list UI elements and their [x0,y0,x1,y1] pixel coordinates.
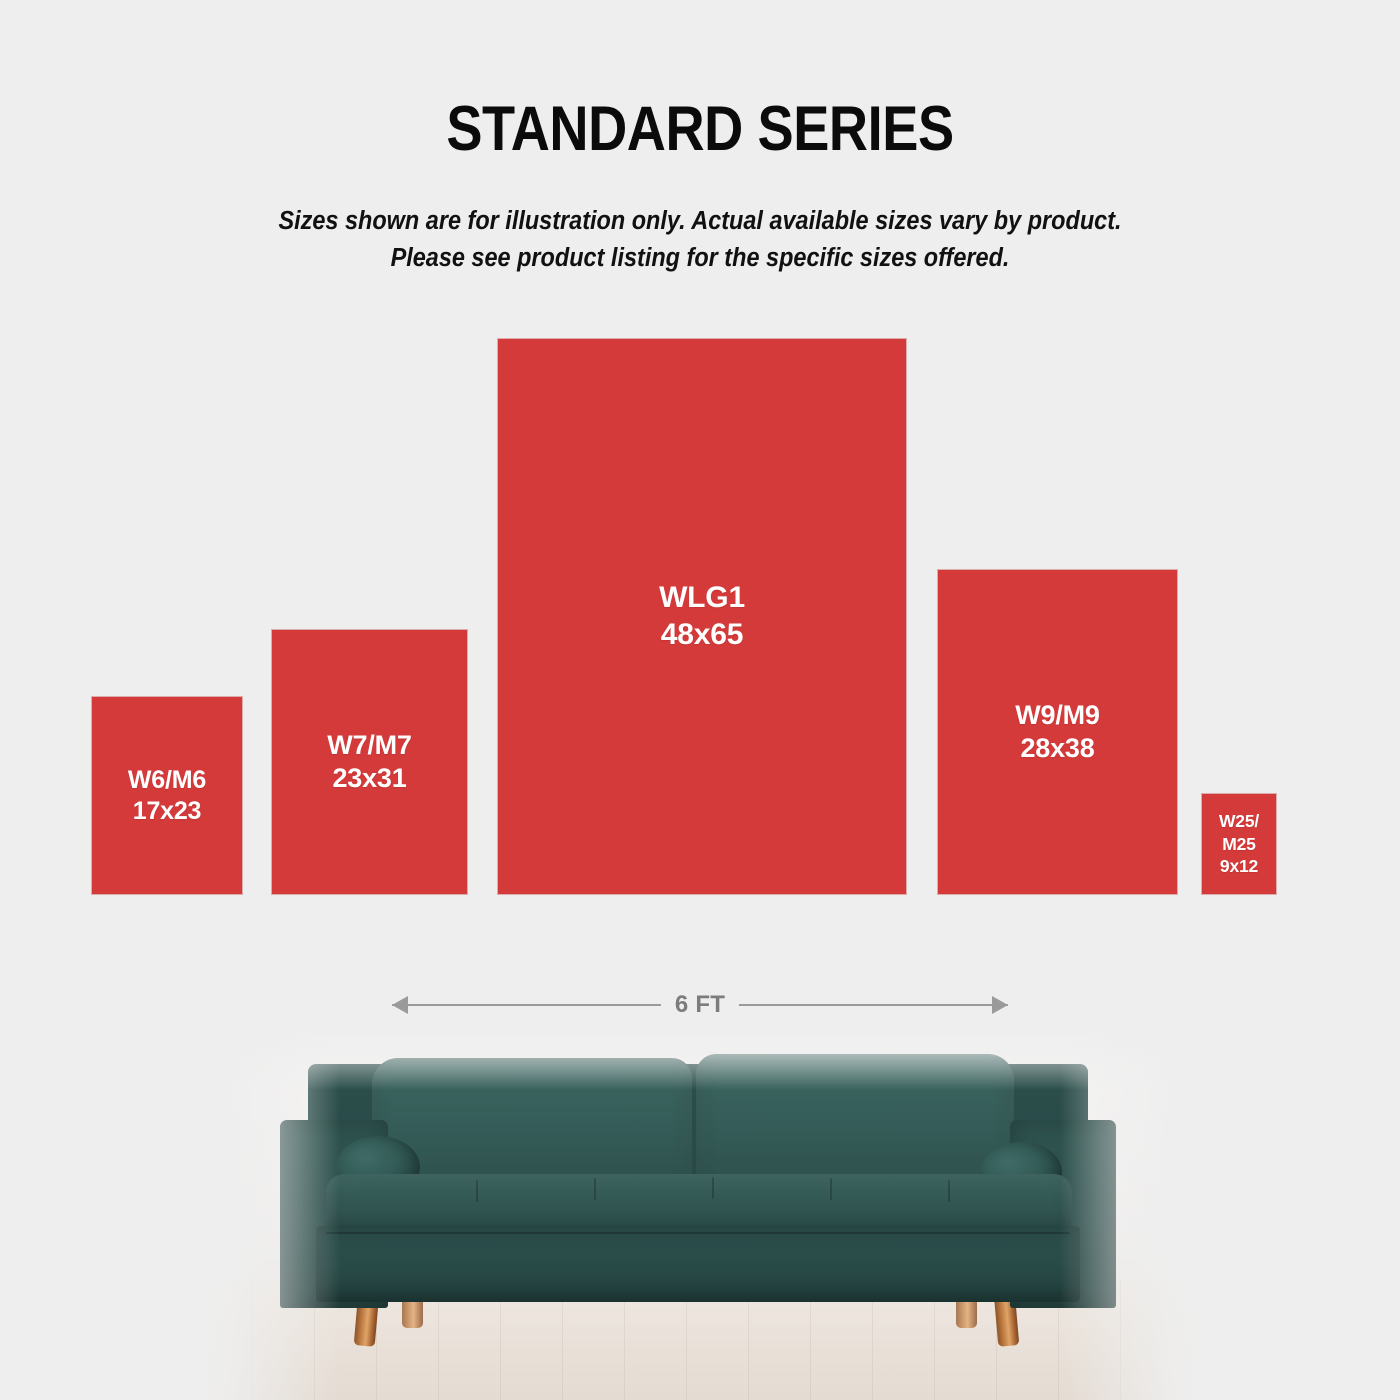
seat-tuft [948,1180,950,1202]
frame-dimensions-label: 9x12 [1220,855,1258,877]
photo-fade-left [190,1030,340,1400]
seat-tuft [476,1180,478,1202]
frame-swatch-w25-m25[interactable]: W25/ M25 9x12 [1202,794,1276,894]
seat-tuft [712,1177,714,1199]
infographic-canvas: STANDARD SERIES Sizes shown are for illu… [0,0,1400,1400]
arrow-right-icon [992,996,1008,1014]
arrow-left-icon [392,996,408,1014]
measure-label: 6 FT [661,989,739,1021]
sofa-base-front [316,1226,1080,1302]
frame-code-label: WLG1 [659,580,745,617]
frame-code-label: W6/M6 [128,765,206,796]
frame-code-label-line2: M25 [1222,833,1255,855]
frame-dimensions-label: 28x38 [1020,732,1094,765]
frame-code-label: W9/M9 [1015,699,1100,732]
frame-code-label: W7/M7 [327,729,412,762]
frame-dimensions-label: 17x23 [133,796,202,827]
width-measure-6ft: 6 FT [392,990,1008,1020]
frame-swatch-wlg1[interactable]: WLG1 48x65 [498,339,906,894]
green-velvet-sofa [280,1048,1116,1348]
sofa-photo [190,1030,1210,1400]
photo-fade-top [190,1030,1210,1090]
seat-tuft [594,1178,596,1200]
frame-swatch-w6-m6[interactable]: W6/M6 17x23 [92,697,242,894]
frame-dimensions-label: 23x31 [332,762,406,795]
frame-swatch-w9-m9[interactable]: W9/M9 28x38 [938,570,1177,894]
photo-fade-right [1060,1030,1210,1400]
frame-swatch-w7-m7[interactable]: W7/M7 23x31 [272,630,467,894]
frame-code-label: W25/ [1219,810,1259,832]
frame-dimensions-label: 48x65 [661,617,743,654]
seat-tuft [830,1178,832,1200]
